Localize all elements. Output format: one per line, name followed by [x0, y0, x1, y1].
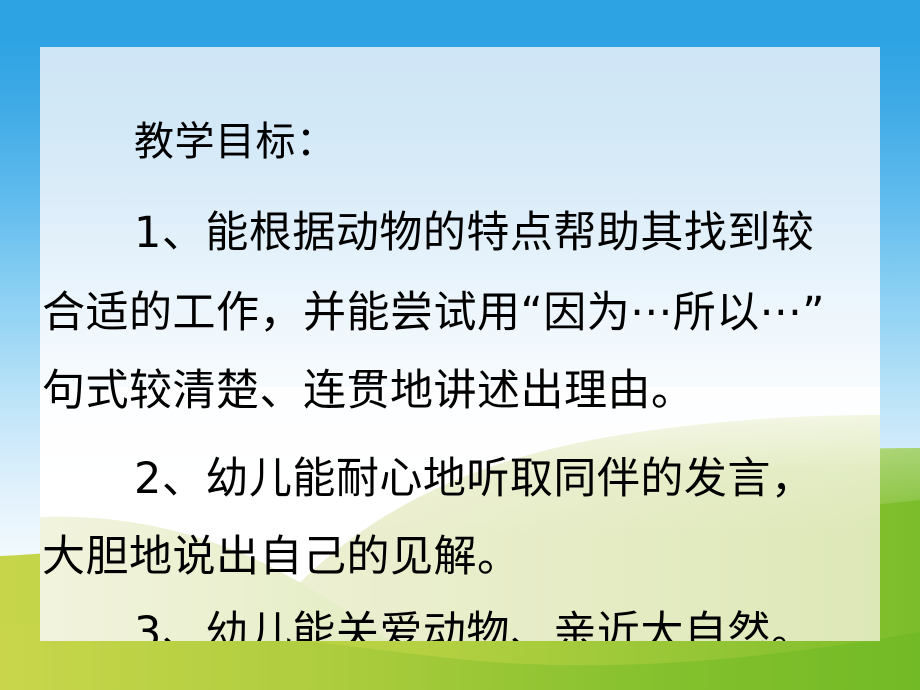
objective-1-line-1: 1、能根据动物的特点帮助其找到较	[134, 212, 814, 255]
objective-2-line-1: 2、幼儿能耐心地听取同伴的发言，	[134, 458, 814, 501]
page-title: 教学目标：	[134, 122, 337, 162]
objective-1-line-3: 句式较清楚、连贯地讲述出理由。	[42, 370, 695, 413]
slide: 教学目标： 1、能根据动物的特点帮助其找到较 合适的工作，并能尝试用“因为···…	[0, 0, 920, 690]
objectives-text-layer: 教学目标： 1、能根据动物的特点帮助其找到较 合适的工作，并能尝试用“因为···…	[40, 47, 880, 641]
content-panel: 教学目标： 1、能根据动物的特点帮助其找到较 合适的工作，并能尝试用“因为···…	[40, 47, 880, 641]
objective-1-line-2: 合适的工作，并能尝试用“因为···所以···”	[42, 292, 825, 335]
objective-2-line-2: 大胆地说出自己的见解。	[42, 536, 521, 579]
objective-3-line-1: 3、幼儿能关爱动物、亲近大自然。	[134, 612, 814, 641]
